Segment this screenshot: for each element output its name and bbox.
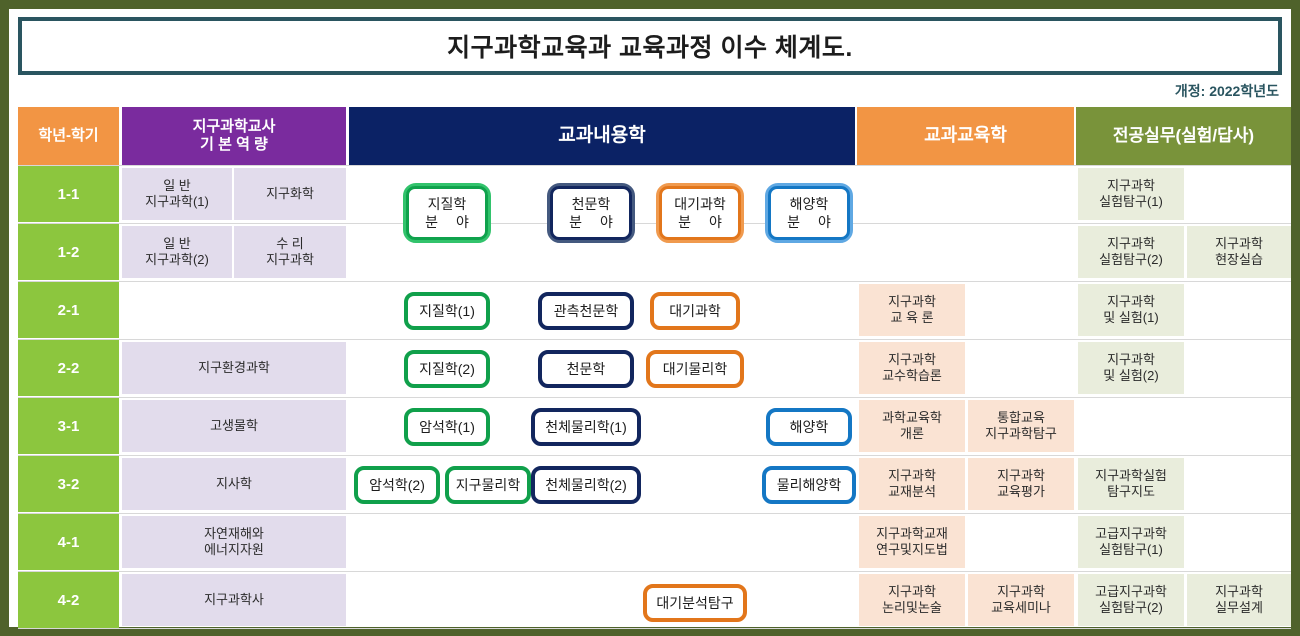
term-cell: 3-2 <box>18 456 119 512</box>
pedagogy-course-label: 교육세미나 <box>991 600 1051 616</box>
field-chip-astronomy: 천문학 분 야 <box>547 183 635 243</box>
practice-course-label: 지구과학 <box>1215 236 1263 252</box>
field-chip-label: 분 야 <box>418 213 476 231</box>
practice-course-label: 지구과학 <box>1099 178 1163 194</box>
field-chip-label: 해양학 <box>790 195 829 213</box>
practice-course-label: 실험탐구(1) <box>1095 542 1167 558</box>
course-chip-geophysics[interactable]: 지구물리학 <box>445 466 531 504</box>
course-chip-atmospheric-analysis[interactable]: 대기분석탐구 <box>643 584 747 622</box>
pedagogy-course-2-2-a: 지구과학교수학습론 <box>859 342 965 394</box>
practice-course-label: 실험탐구(2) <box>1099 252 1163 268</box>
field-chip-label: 지질학 <box>428 195 467 213</box>
basic-course-1-1-b: 지구화학 <box>234 168 346 220</box>
pedagogy-course-label: 지구과학 <box>882 584 942 600</box>
header-subject-pedagogy: 교과교육학 <box>857 107 1074 165</box>
practice-course-1-1-a: 지구과학실험탐구(1) <box>1078 168 1184 220</box>
term-cell: 4-1 <box>18 514 119 570</box>
pedagogy-course-3-1-a: 과학교육학개론 <box>859 400 965 452</box>
course-chip-oceanography[interactable]: 해양학 <box>766 408 852 446</box>
practice-course-4-2-b: 지구과학실무설계 <box>1187 574 1291 626</box>
pedagogy-course-label: 지구과학 <box>882 352 942 368</box>
pedagogy-course-label: 교육평가 <box>997 484 1045 500</box>
field-chip-label: 분 야 <box>780 213 838 231</box>
practice-course-label: 지구과학 <box>1103 352 1158 368</box>
header-major-practice: 전공실무(실험/답사) <box>1076 107 1291 165</box>
curriculum-grid: 학년-학기 지구과학교사 기 본 역 량 교과내용학 교과교육학 전공실무(실험… <box>18 107 1291 629</box>
pedagogy-course-label: 연구및지도법 <box>876 542 948 558</box>
field-chip-label: 분 야 <box>562 213 620 231</box>
pedagogy-course-label: 과학교육학 <box>882 410 942 426</box>
course-chip-astrophysics-2[interactable]: 천체물리학(2) <box>531 466 641 504</box>
pedagogy-course-3-1-b: 통합교육지구과학탐구 <box>968 400 1074 452</box>
basic-course-1-2-b: 수 리 지구과학 <box>234 226 346 278</box>
pedagogy-course-label: 지구과학 <box>991 584 1051 600</box>
pedagogy-course-label: 지구과학 <box>888 294 936 310</box>
practice-course-label: 지구과학 <box>1103 294 1158 310</box>
basic-course-4-2: 지구과학사 <box>122 574 346 626</box>
term-cell: 4-2 <box>18 572 119 628</box>
pedagogy-course-label: 지구과학탐구 <box>985 426 1057 442</box>
pedagogy-course-4-2-a: 지구과학논리및논술 <box>859 574 965 626</box>
course-chip-astronomy[interactable]: 천문학 <box>538 350 634 388</box>
course-chip-atmospheric-science[interactable]: 대기과학 <box>650 292 740 330</box>
pedagogy-course-3-2-b: 지구과학교육평가 <box>968 458 1074 510</box>
practice-course-label: 실험탐구(2) <box>1095 600 1167 616</box>
header-basic-line2: 기 본 역 량 <box>193 136 276 154</box>
course-chip-petrology-1[interactable]: 암석학(1) <box>404 408 490 446</box>
basic-course-label: 에너지자원 <box>204 542 264 558</box>
practice-course-label: 지구과학 <box>1099 236 1163 252</box>
basic-course-label: 일 반 <box>145 236 209 252</box>
term-cell: 2-2 <box>18 340 119 396</box>
practice-course-3-2-a: 지구과학실험탐구지도 <box>1078 458 1184 510</box>
practice-course-label: 실무설계 <box>1215 600 1263 616</box>
pedagogy-course-label: 지구과학교재 <box>876 526 948 542</box>
course-chip-geology-1[interactable]: 지질학(1) <box>404 292 490 330</box>
pedagogy-course-label: 지구과학 <box>997 468 1045 484</box>
practice-course-2-2-a: 지구과학및 실험(2) <box>1078 342 1184 394</box>
course-chip-observational-astronomy[interactable]: 관측천문학 <box>538 292 634 330</box>
field-chip-atmosphere: 대기과학 분 야 <box>656 183 744 243</box>
basic-course-4-1: 자연재해와 에너지자원 <box>122 516 346 568</box>
term-cell: 3-1 <box>18 398 119 454</box>
field-chip-label: 분 야 <box>671 213 729 231</box>
practice-course-2-1-a: 지구과학및 실험(1) <box>1078 284 1184 336</box>
page-title-box: 지구과학교육과 교육과정 이수 체계도. <box>18 17 1282 75</box>
basic-course-1-1-a: 일 반 지구과학(1) <box>122 168 232 220</box>
practice-course-label: 탐구지도 <box>1095 484 1167 500</box>
practice-course-1-2-b: 지구과학현장실습 <box>1187 226 1291 278</box>
basic-course-label: 수 리 <box>266 236 314 252</box>
pedagogy-course-label: 지구과학 <box>888 468 936 484</box>
basic-course-3-1: 고생물학 <box>122 400 346 452</box>
pedagogy-course-4-2-b: 지구과학교육세미나 <box>968 574 1074 626</box>
practice-course-label: 현장실습 <box>1215 252 1263 268</box>
term-cell: 2-1 <box>18 282 119 338</box>
practice-course-label: 및 실험(1) <box>1103 310 1158 326</box>
course-chip-physical-oceanography[interactable]: 물리해양학 <box>762 466 856 504</box>
course-chip-geology-2[interactable]: 지질학(2) <box>404 350 490 388</box>
field-chip-label: 대기과학 <box>674 195 726 213</box>
practice-course-4-1-a: 고급지구과학실험탐구(1) <box>1078 516 1184 568</box>
practice-course-label: 지구과학실험 <box>1095 468 1167 484</box>
pedagogy-course-label: 교수학습론 <box>882 368 942 384</box>
field-chip-label: 천문학 <box>572 195 611 213</box>
basic-course-3-2: 지사학 <box>122 458 346 510</box>
pedagogy-course-label: 통합교육 <box>985 410 1057 426</box>
basic-course-label: 지구과학(2) <box>145 252 209 268</box>
practice-course-label: 지구과학 <box>1215 584 1263 600</box>
basic-course-label: 일 반 <box>163 178 191 193</box>
grid-rows: 1-1 1-2 2-1 2-2 3-1 3-2 4-1 4-2 일 반 지구과학… <box>18 165 1291 629</box>
curriculum-chart: 지구과학교육과 교육과정 이수 체계도. 개정: 2022학년도 학년-학기 지… <box>0 0 1300 636</box>
header-subject-content: 교과내용학 <box>349 107 855 165</box>
pedagogy-course-4-1-a: 지구과학교재연구및지도법 <box>859 516 965 568</box>
practice-course-label: 고급지구과학 <box>1095 526 1167 542</box>
pedagogy-course-2-1-a: 지구과학교 육 론 <box>859 284 965 336</box>
field-chip-ocean: 해양학 분 야 <box>765 183 853 243</box>
pedagogy-course-label: 교 육 론 <box>888 310 936 326</box>
basic-course-label: 지구과학(1) <box>145 194 209 210</box>
revision-label: 개정: 2022학년도 <box>1175 81 1279 101</box>
pedagogy-course-label: 교재분석 <box>888 484 936 500</box>
basic-course-2-2: 지구환경과학 <box>122 342 346 394</box>
practice-course-4-2-a: 고급지구과학실험탐구(2) <box>1078 574 1184 626</box>
basic-course-label: 지구과학 <box>266 252 314 268</box>
practice-course-label: 및 실험(2) <box>1103 368 1158 384</box>
page-title: 지구과학교육과 교육과정 이수 체계도. <box>447 28 853 64</box>
practice-course-1-2-a: 지구과학실험탐구(2) <box>1078 226 1184 278</box>
course-chip-atmospheric-physics[interactable]: 대기물리학 <box>646 350 744 388</box>
header-basic-line1: 지구과학교사 <box>193 118 276 136</box>
header-basic-competency: 지구과학교사 기 본 역 량 <box>122 107 346 165</box>
term-cell: 1-1 <box>18 166 119 222</box>
header-term: 학년-학기 <box>18 107 119 165</box>
course-chip-astrophysics-1[interactable]: 천체물리학(1) <box>531 408 641 446</box>
field-chip-geology: 지질학 분 야 <box>403 183 491 243</box>
term-cell: 1-2 <box>18 224 119 280</box>
basic-course-label: 자연재해와 <box>204 526 264 542</box>
practice-course-label: 실험탐구(1) <box>1099 194 1163 210</box>
pedagogy-course-label: 논리및논술 <box>882 600 942 616</box>
course-chip-petrology-2[interactable]: 암석학(2) <box>354 466 440 504</box>
practice-course-label: 고급지구과학 <box>1095 584 1167 600</box>
basic-course-1-2-a: 일 반 지구과학(2) <box>122 226 232 278</box>
pedagogy-course-label: 개론 <box>882 426 942 442</box>
pedagogy-course-3-2-a: 지구과학교재분석 <box>859 458 965 510</box>
